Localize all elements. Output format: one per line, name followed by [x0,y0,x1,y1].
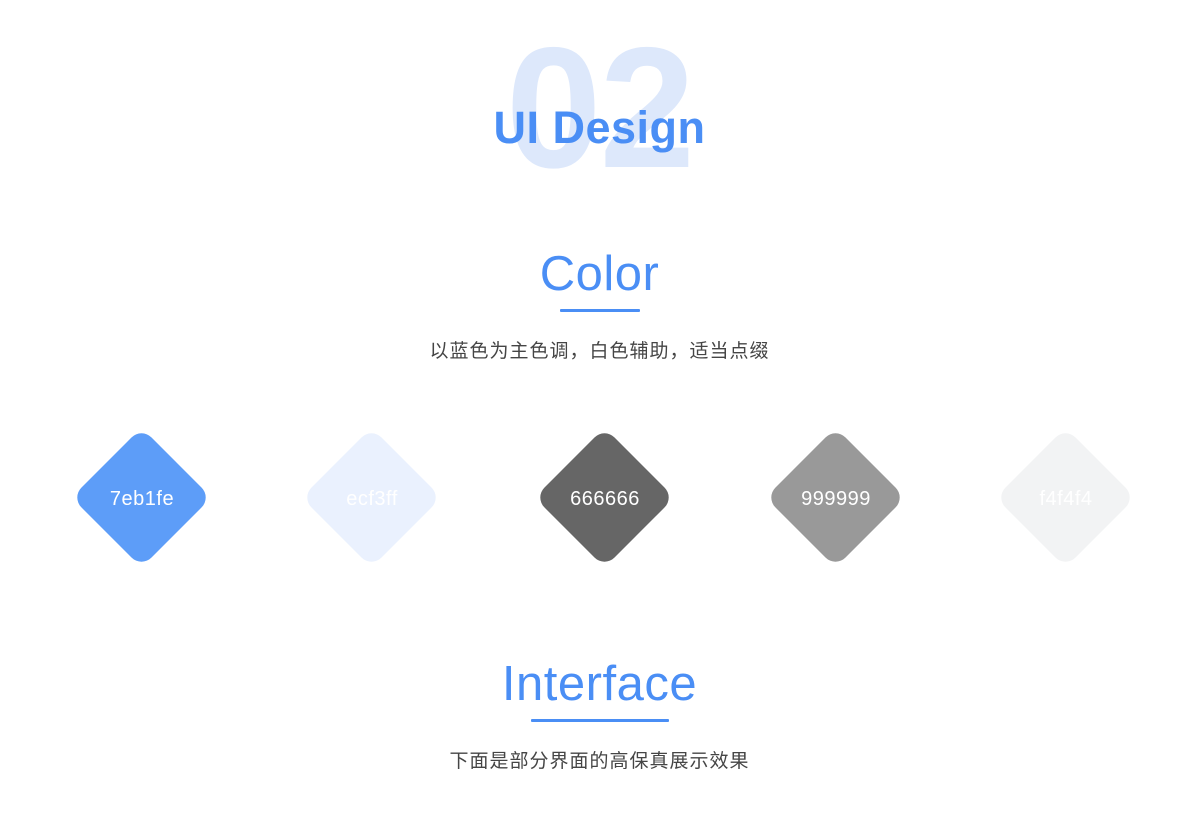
color-swatch-row: 7eb1fe ecf3ff 666666 999999 f4f4f4 [0,427,1199,569]
presentation-slide: 02 UI Design Color 以蓝色为主色调，白色辅助，适当点缀 7eb… [0,0,1199,835]
section-heading-interface-label: Interface [502,659,697,710]
section-heading-interface: Interface [0,659,1199,722]
color-swatch-diamond[interactable] [71,427,211,567]
color-swatch-diamond[interactable] [995,427,1135,567]
hero-section: 02 UI Design [0,0,1199,210]
heading-underline-color [560,309,640,312]
section-subtitle-interface: 下面是部分界面的高保真展示效果 [0,746,1199,773]
color-swatch-diamond[interactable] [534,427,674,567]
section-subtitle-color: 以蓝色为主色调，白色辅助，适当点缀 [0,336,1199,363]
heading-underline-interface [531,719,669,722]
section-heading-color: Color [0,249,1199,312]
page-title: UI Design [0,103,1199,153]
section-heading-color-label: Color [540,249,660,300]
color-swatch-diamond[interactable] [301,427,441,567]
color-swatch-diamond[interactable] [765,427,905,567]
